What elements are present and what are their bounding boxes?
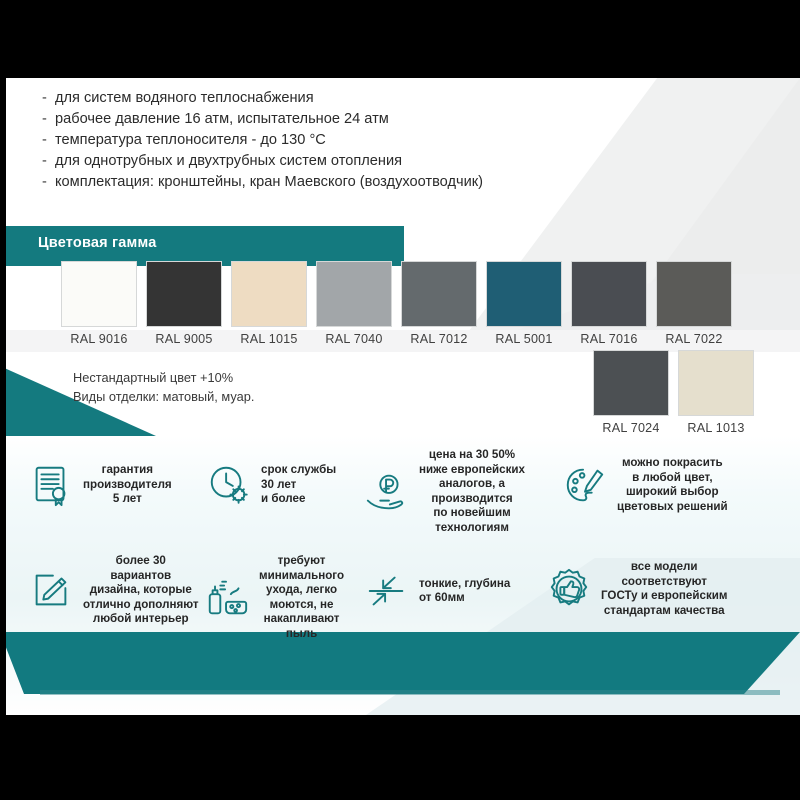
spec-bullet-item: -для однотрубных и двухтрубных систем от… bbox=[42, 151, 662, 172]
hand-ruble-icon bbox=[364, 469, 410, 515]
feature-text-line: вариантов bbox=[83, 569, 199, 584]
color-note-line: Виды отделки: матовый, муар. bbox=[73, 387, 254, 406]
feature-text-line: технологиям bbox=[419, 521, 525, 536]
spec-bullet-text: рабочее давление 16 атм, испытательное 2… bbox=[55, 109, 389, 130]
color-notes: Нестандартный цвет +10%Виды отделки: мат… bbox=[73, 368, 254, 406]
feature-text-line: производителя bbox=[83, 478, 172, 493]
ral-swatch-chip[interactable] bbox=[401, 261, 477, 327]
feature-text-line: более 30 bbox=[83, 554, 199, 569]
spec-bullet-text: комплектация: кронштейны, кран Маевского… bbox=[55, 172, 483, 193]
feature-text-line: соответствуют bbox=[601, 575, 727, 590]
feature-text-line: цветовых решений bbox=[617, 500, 728, 515]
ral-swatch-label: RAL 7040 bbox=[316, 332, 392, 346]
bullet-dash-icon: - bbox=[42, 109, 55, 130]
ral-swatch-chip[interactable] bbox=[678, 350, 754, 416]
color-note-line: Нестандартный цвет +10% bbox=[73, 368, 254, 387]
ral-swatch-label: RAL 7012 bbox=[401, 332, 477, 346]
spec-bullet-item: -для систем водяного теплоснабжения bbox=[42, 88, 662, 109]
feature-text-line: и более bbox=[261, 492, 336, 507]
ral-swatch[interactable]: RAL 7040 bbox=[316, 261, 392, 346]
feature-price: цена на 30 50%ниже европейскиханалогов, … bbox=[364, 448, 564, 535]
ral-swatch-chip[interactable] bbox=[486, 261, 562, 327]
feature-text-line: стандартам качества bbox=[601, 604, 727, 619]
feature-design-variants: более 30вариантовдизайна, которыеотлично… bbox=[28, 554, 208, 627]
ral-swatch-label: RAL 1015 bbox=[231, 332, 307, 346]
ral-swatch-row-1: RAL 9016RAL 9005RAL 1015RAL 7040RAL 7012… bbox=[61, 261, 732, 346]
bullet-dash-icon: - bbox=[42, 130, 55, 151]
pencil-design-icon bbox=[28, 567, 74, 613]
feature-text-line: требуют bbox=[259, 554, 344, 569]
feature-warranty: гарантияпроизводителя5 лет bbox=[28, 462, 203, 508]
feature-text-line: пыль bbox=[259, 627, 344, 642]
feature-text-line: тонкие, глубина bbox=[419, 577, 510, 592]
bullet-dash-icon: - bbox=[42, 172, 55, 193]
bottom-teal-band bbox=[6, 632, 800, 694]
spec-bullet-text: для систем водяного теплоснабжения bbox=[55, 88, 314, 109]
feature-text: требуютминимальногоухода, легкомоются, н… bbox=[259, 554, 344, 641]
ral-swatch[interactable]: RAL 7012 bbox=[401, 261, 477, 346]
feature-text-line: накапливают bbox=[259, 612, 344, 627]
feature-text-line: ГОСТу и европейским bbox=[601, 589, 727, 604]
spec-bullet-list: -для систем водяного теплоснабжения-рабо… bbox=[42, 88, 662, 193]
ral-swatch-chip[interactable] bbox=[231, 261, 307, 327]
bullet-dash-icon: - bbox=[42, 88, 55, 109]
feature-text-line: ниже европейских bbox=[419, 463, 525, 478]
feature-text-line: 30 лет bbox=[261, 478, 336, 493]
feature-depth: тонкие, глубинаот 60мм bbox=[364, 568, 554, 614]
ral-swatch-label: RAL 7024 bbox=[593, 421, 669, 435]
feature-text: тонкие, глубинаот 60мм bbox=[419, 577, 510, 606]
feature-text-line: можно покрасить bbox=[617, 456, 728, 471]
feature-text: цена на 30 50%ниже европейскиханалогов, … bbox=[419, 448, 525, 535]
feature-text-line: широкий выбор bbox=[617, 485, 728, 500]
ral-swatch[interactable]: RAL 9016 bbox=[61, 261, 137, 346]
bullet-dash-icon: - bbox=[42, 151, 55, 172]
spec-bullet-item: -температура теплоносителя - до 130 °С bbox=[42, 130, 662, 151]
feature-text-line: цена на 30 50% bbox=[419, 448, 525, 463]
feature-text-line: в любой цвет, bbox=[617, 471, 728, 486]
clock-gear-icon bbox=[206, 462, 252, 508]
ral-swatch[interactable]: RAL 9005 bbox=[146, 261, 222, 346]
feature-text-line: ухода, легко bbox=[259, 583, 344, 598]
palette-icon bbox=[562, 462, 608, 508]
ral-swatch-label: RAL 9016 bbox=[61, 332, 137, 346]
feature-text: срок службы30 лети более bbox=[261, 463, 336, 507]
ral-swatch-label: RAL 7016 bbox=[571, 332, 647, 346]
feature-text-line: гарантия bbox=[83, 463, 172, 478]
ral-swatch-row-2: RAL 7024RAL 1013 bbox=[593, 350, 754, 435]
feature-text-line: от 60мм bbox=[419, 591, 510, 606]
ral-swatch[interactable]: RAL 1013 bbox=[678, 350, 754, 435]
ral-swatch-chip[interactable] bbox=[146, 261, 222, 327]
feature-text: более 30вариантовдизайна, которыеотлично… bbox=[83, 554, 199, 627]
depth-arrows-icon bbox=[364, 568, 410, 614]
ral-swatch[interactable]: RAL 5001 bbox=[486, 261, 562, 346]
spec-bullet-text: температура теплоносителя - до 130 °С bbox=[55, 130, 326, 151]
feature-text-line: по новейшим bbox=[419, 506, 525, 521]
feature-paint: можно покраситьв любой цвет,широкий выбо… bbox=[562, 456, 797, 514]
ral-swatch-label: RAL 9005 bbox=[146, 332, 222, 346]
feature-text-line: срок службы bbox=[261, 463, 336, 478]
feature-standards: все моделисоответствуютГОСТу и европейск… bbox=[546, 560, 796, 618]
ral-swatch-chip[interactable] bbox=[656, 261, 732, 327]
ral-swatch[interactable]: RAL 7022 bbox=[656, 261, 732, 346]
ral-swatch-label: RAL 7022 bbox=[656, 332, 732, 346]
feature-text-line: моются, не bbox=[259, 598, 344, 613]
spec-bullet-item: -комплектация: кронштейны, кран Маевског… bbox=[42, 172, 662, 193]
feature-text-line: минимального bbox=[259, 569, 344, 584]
thumbs-up-badge-icon bbox=[546, 566, 592, 612]
ral-swatch[interactable]: RAL 1015 bbox=[231, 261, 307, 346]
spec-bullet-item: -рабочее давление 16 атм, испытательное … bbox=[42, 109, 662, 130]
feature-text-line: любой интерьер bbox=[83, 612, 199, 627]
ral-swatch-chip[interactable] bbox=[61, 261, 137, 327]
ral-swatch-label: RAL 5001 bbox=[486, 332, 562, 346]
feature-text-line: производится bbox=[419, 492, 525, 507]
feature-maintenance: требуютминимальногоухода, легкомоются, н… bbox=[204, 554, 364, 641]
ral-swatch-chip[interactable] bbox=[316, 261, 392, 327]
feature-service-life: срок службы30 лети более bbox=[206, 462, 366, 508]
color-section-title: Цветовая гамма bbox=[38, 235, 156, 251]
ral-swatch-chip[interactable] bbox=[593, 350, 669, 416]
feature-text-line: 5 лет bbox=[83, 492, 172, 507]
feature-text-line: все модели bbox=[601, 560, 727, 575]
feature-text: можно покраситьв любой цвет,широкий выбо… bbox=[617, 456, 728, 514]
ral-swatch-chip[interactable] bbox=[571, 261, 647, 327]
feature-text-line: дизайна, которые bbox=[83, 583, 199, 598]
spec-bullet-text: для однотрубных и двухтрубных систем ото… bbox=[55, 151, 402, 172]
feature-text-line: отлично дополняют bbox=[83, 598, 199, 613]
bottom-band-shadow bbox=[40, 690, 780, 695]
feature-text: гарантияпроизводителя5 лет bbox=[83, 463, 172, 507]
spray-sponge-icon bbox=[204, 575, 250, 621]
content-canvas: -для систем водяного теплоснабжения-рабо… bbox=[6, 78, 800, 715]
certificate-icon bbox=[28, 462, 74, 508]
ral-swatch[interactable]: RAL 7024 bbox=[593, 350, 669, 435]
feature-text-line: аналогов, а bbox=[419, 477, 525, 492]
ral-swatch-label: RAL 1013 bbox=[678, 421, 754, 435]
slide-root: -для систем водяного теплоснабжения-рабо… bbox=[0, 0, 800, 800]
feature-text: все моделисоответствуютГОСТу и европейск… bbox=[601, 560, 727, 618]
ral-swatch[interactable]: RAL 7016 bbox=[571, 261, 647, 346]
